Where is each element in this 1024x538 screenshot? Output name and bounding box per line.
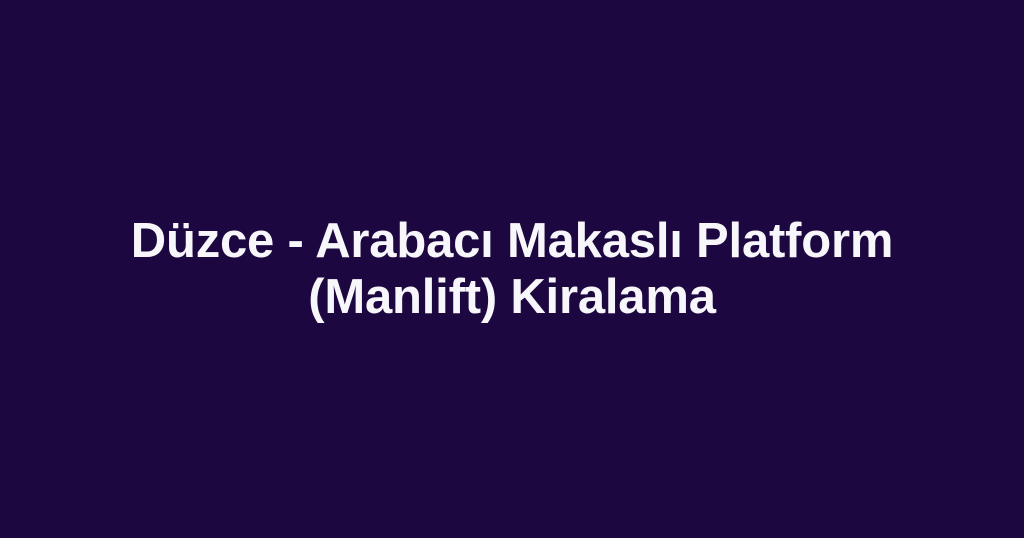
title-block: Düzce - Arabacı Makaslı Platform (Manlif… <box>72 213 952 325</box>
page-title-line-1: Düzce - Arabacı Makaslı Platform <box>112 213 912 269</box>
page-title: Düzce - Arabacı Makaslı Platform (Manlif… <box>112 213 912 325</box>
banner-canvas: Düzce - Arabacı Makaslı Platform (Manlif… <box>0 0 1024 538</box>
page-title-line-2: (Manlift) Kiralama <box>112 269 912 325</box>
